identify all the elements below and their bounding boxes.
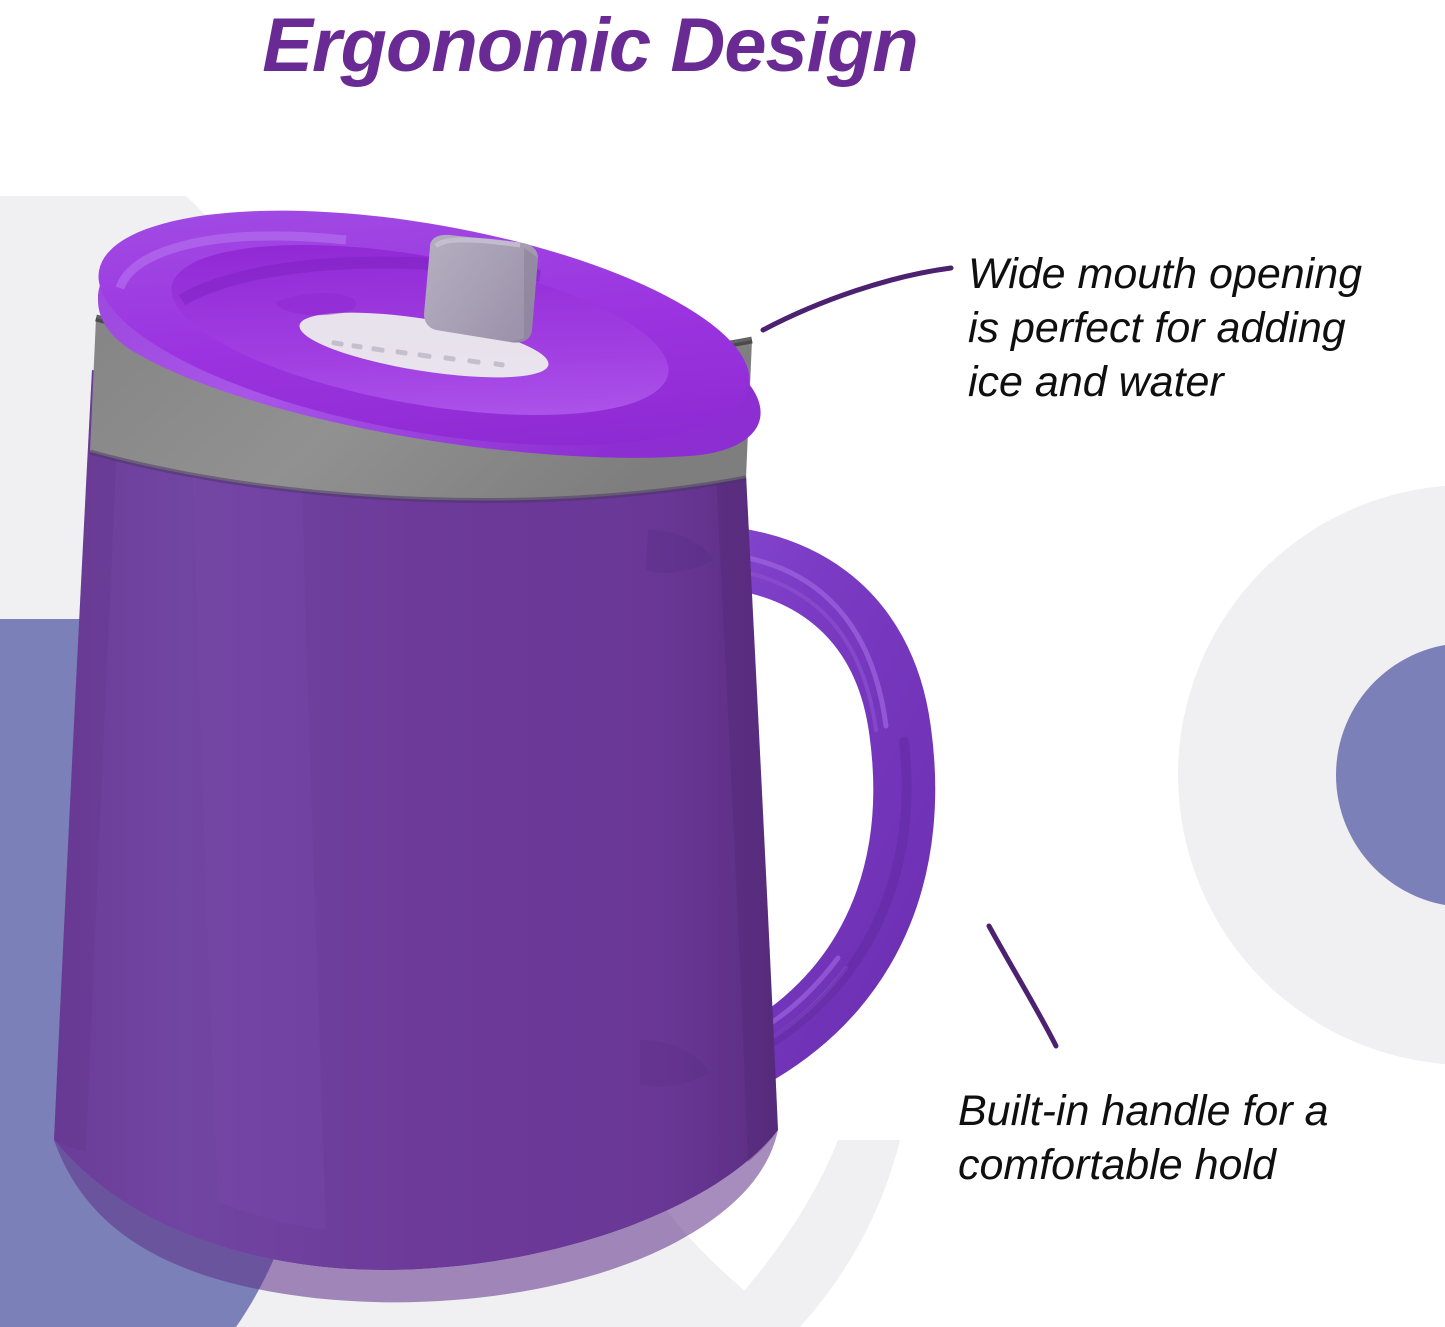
page-title: Ergonomic Design [0, 2, 1180, 89]
annotation-built-in-handle: Built-in handle for a comfortable hold [958, 1085, 1378, 1193]
annotation-wide-mouth: Wide mouth opening is perfect for adding… [968, 248, 1398, 409]
leader-line-wide-mouth [763, 268, 951, 330]
leader-line-built-in-handle [989, 926, 1056, 1046]
product-infographic: Ergonomic Design Wide mouth opening is p… [0, 0, 1445, 1327]
